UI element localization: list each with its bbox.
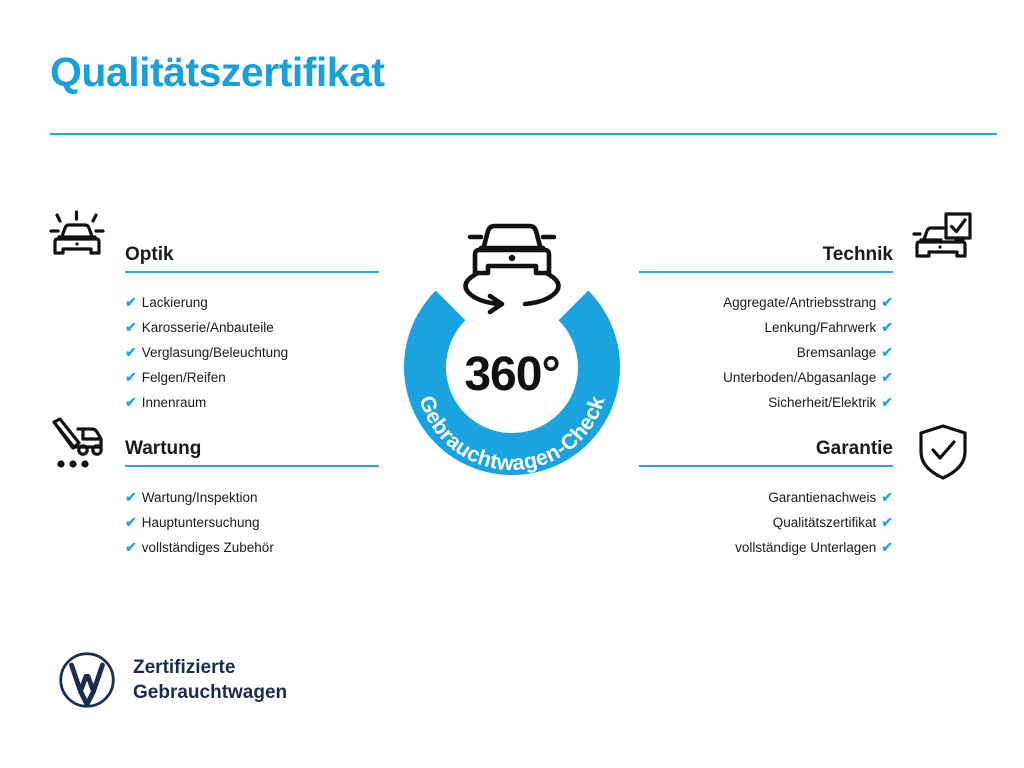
list-item-label: Innenraum <box>142 395 207 410</box>
section-divider <box>639 271 893 273</box>
list-item: ✔Wartung/Inspektion <box>125 485 379 510</box>
certificate-page: Qualitätszertifikat Optik ✔Lackierung ✔K… <box>0 0 1024 768</box>
check-icon: ✔ <box>881 344 893 360</box>
footer-line-2: Gebrauchtwagen <box>133 680 287 705</box>
list-item: ✔Felgen/Reifen <box>125 365 379 390</box>
car-shine-icon <box>45 205 109 269</box>
section-divider <box>639 465 893 467</box>
list-item-label: Karosserie/Anbauteile <box>142 320 274 335</box>
car-checkbox-icon <box>911 208 975 272</box>
list-item: Bremsanlage✔ <box>639 340 893 365</box>
list-item: ✔vollständiges Zubehör <box>125 535 379 560</box>
list-item-label: vollständiges Zubehör <box>142 540 274 555</box>
list-item: Lenkung/Fahrwerk✔ <box>639 315 893 340</box>
section-list-optik: ✔Lackierung ✔Karosserie/Anbauteile ✔Verg… <box>125 290 379 415</box>
list-item: Garantienachweis✔ <box>639 485 893 510</box>
check-icon: ✔ <box>125 489 137 505</box>
list-item: Aggregate/Antriebsstrang✔ <box>639 290 893 315</box>
list-item-label: vollständige Unterlagen <box>735 540 876 555</box>
section-header-optik: Optik <box>125 244 379 273</box>
check-icon: ✔ <box>881 489 893 505</box>
list-item: Sicherheit/Elektrik✔ <box>639 390 893 415</box>
check-icon: ✔ <box>125 369 137 385</box>
list-item-label: Lenkung/Fahrwerk <box>764 320 876 335</box>
list-item: vollständige Unterlagen✔ <box>639 535 893 560</box>
section-header-wartung: Wartung <box>125 438 379 467</box>
car-rotation-icon <box>466 226 559 312</box>
check-icon: ✔ <box>881 294 893 310</box>
section-header-technik: Technik <box>639 244 893 273</box>
section-divider <box>125 465 379 467</box>
check-icon: ✔ <box>881 369 893 385</box>
section-divider <box>125 271 379 273</box>
list-item-label: Hauptuntersuchung <box>142 515 260 530</box>
section-header-garantie: Garantie <box>639 438 893 467</box>
list-item-label: Aggregate/Antriebsstrang <box>723 295 876 310</box>
list-item-label: Lackierung <box>142 295 208 310</box>
list-item-label: Wartung/Inspektion <box>142 490 258 505</box>
list-item: Unterboden/Abgasanlage✔ <box>639 365 893 390</box>
list-item-label: Qualitätszertifikat <box>773 515 877 530</box>
footer-text: Zertifizierte Gebrauchtwagen <box>133 655 287 705</box>
check-icon: ✔ <box>125 319 137 335</box>
check-icon: ✔ <box>881 539 893 555</box>
section-title: Optik <box>125 244 379 266</box>
list-item: ✔Karosserie/Anbauteile <box>125 315 379 340</box>
vw-logo <box>57 650 117 710</box>
shield-check-icon <box>911 420 975 484</box>
list-item-label: Verglasung/Beleuchtung <box>142 345 288 360</box>
page-title: Qualitätszertifikat <box>50 50 385 95</box>
list-item-label: Felgen/Reifen <box>142 370 226 385</box>
list-item-label: Garantienachweis <box>768 490 876 505</box>
section-list-wartung: ✔Wartung/Inspektion ✔Hauptuntersuchung ✔… <box>125 485 379 560</box>
section-list-garantie: Garantienachweis✔ Qualitätszertifikat✔ v… <box>639 485 893 560</box>
badge-center-label: 360° <box>382 347 642 402</box>
section-list-technik: Aggregate/Antriebsstrang✔ Lenkung/Fahrwe… <box>639 290 893 415</box>
check-icon: ✔ <box>125 514 137 530</box>
car-lift-wrench-icon <box>45 413 109 477</box>
check-icon: ✔ <box>881 514 893 530</box>
footer-branding: Zertifizierte Gebrauchtwagen <box>57 650 287 710</box>
check-icon: ✔ <box>125 539 137 555</box>
check-icon: ✔ <box>881 394 893 410</box>
section-title: Wartung <box>125 438 379 460</box>
check-icon: ✔ <box>125 344 137 360</box>
list-item-label: Unterboden/Abgasanlage <box>723 370 876 385</box>
badge-graphic: Gebrauchtwagen-Check <box>382 196 642 496</box>
section-title: Technik <box>639 244 893 266</box>
check-icon: ✔ <box>881 319 893 335</box>
section-title: Garantie <box>639 438 893 460</box>
list-item: ✔Lackierung <box>125 290 379 315</box>
footer-line-1: Zertifizierte <box>133 655 287 680</box>
list-item: ✔Verglasung/Beleuchtung <box>125 340 379 365</box>
list-item-label: Sicherheit/Elektrik <box>768 395 876 410</box>
list-item: ✔Hauptuntersuchung <box>125 510 379 535</box>
title-divider <box>50 133 997 135</box>
check-icon: ✔ <box>125 294 137 310</box>
list-item: ✔Innenraum <box>125 390 379 415</box>
list-item: Qualitätszertifikat✔ <box>639 510 893 535</box>
check-icon: ✔ <box>125 394 137 410</box>
list-item-label: Bremsanlage <box>797 345 877 360</box>
gebrauchtwagen-check-badge: Gebrauchtwagen-Check 360° <box>382 196 642 496</box>
